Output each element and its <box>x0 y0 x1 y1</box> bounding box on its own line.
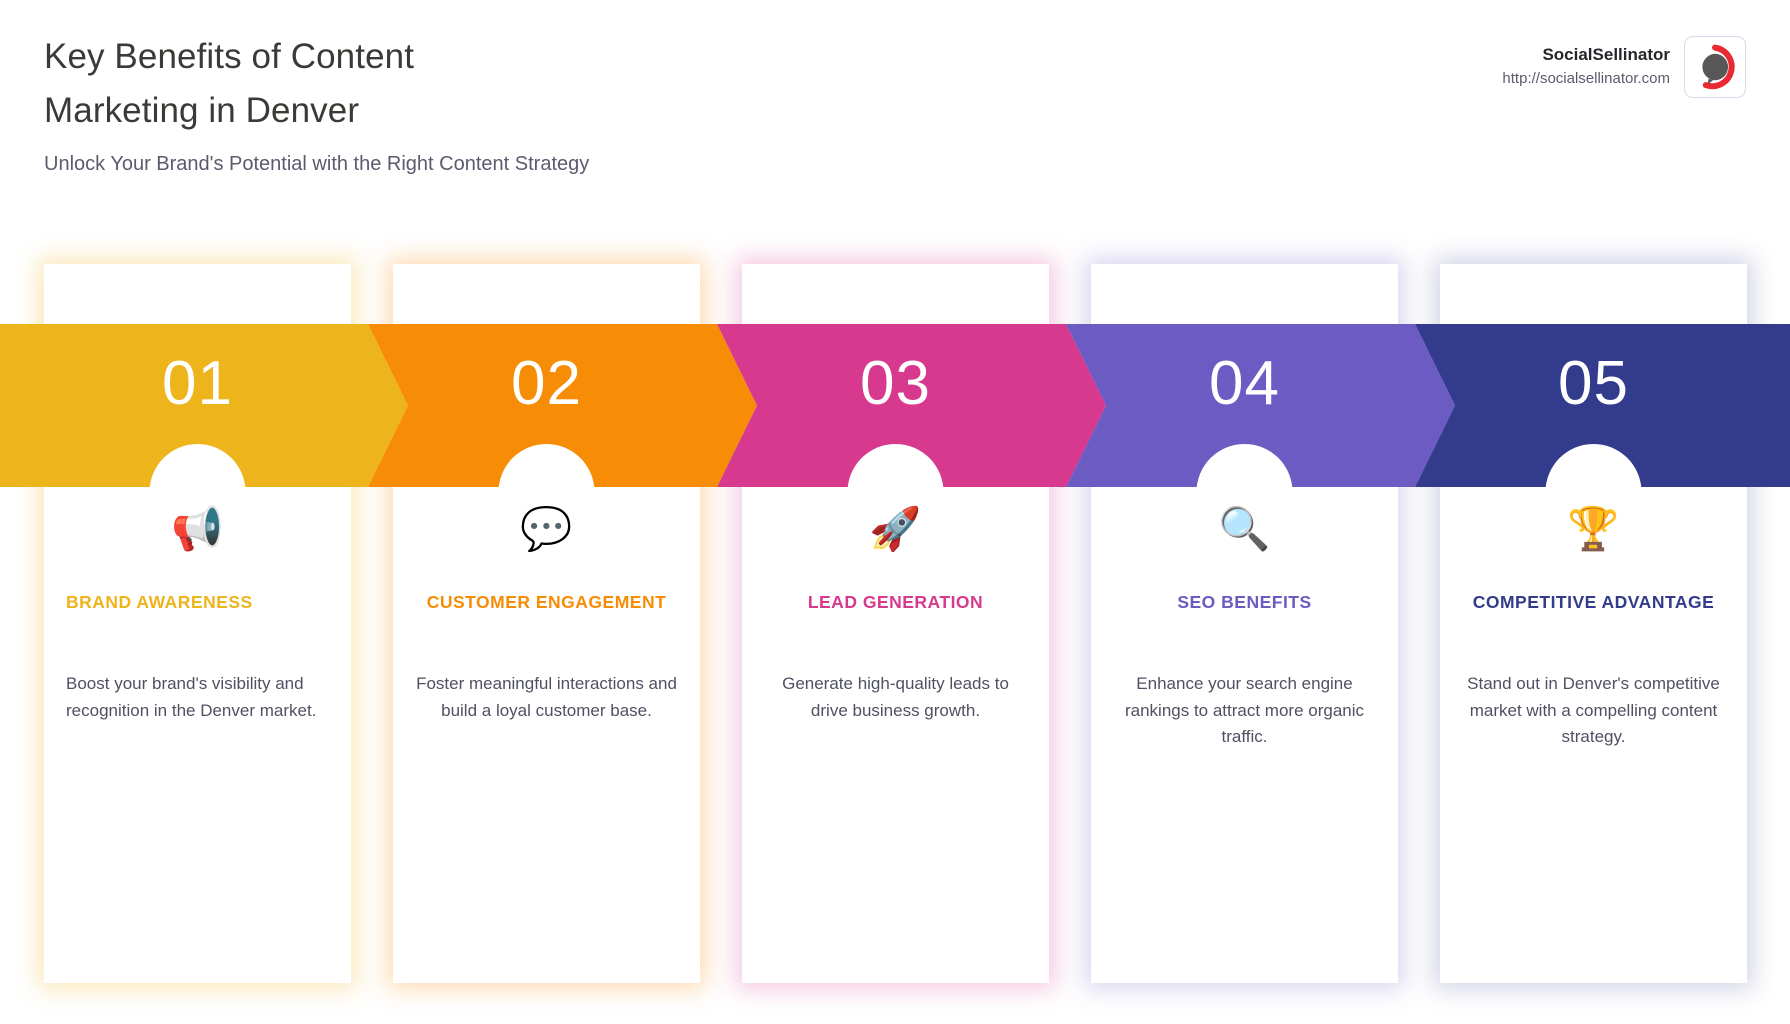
magnifying-glass-icon: 🔍 <box>1091 503 1398 555</box>
step-number: 04 <box>1091 330 1398 438</box>
step-number: 03 <box>742 330 1049 438</box>
step-description: Stand out in Denver's competitive market… <box>1462 671 1725 751</box>
rocket-icon: 🚀 <box>742 503 1049 555</box>
step-title: CUSTOMER ENGAGEMENT <box>415 589 678 615</box>
step-description: Boost your brand's visibility and recogn… <box>66 671 329 724</box>
step-title: SEO BENEFITS <box>1113 589 1376 615</box>
step-title: COMPETITIVE ADVANTAGE <box>1462 589 1725 615</box>
trophy-icon: 🏆 <box>1440 503 1747 555</box>
megaphone-icon: 📢 <box>44 503 351 555</box>
speech-balloon-icon: 💬 <box>393 503 700 555</box>
infographic-canvas: Key Benefits of Content Marketing in Den… <box>0 0 1790 1024</box>
step-number: 01 <box>44 330 351 438</box>
step-title: BRAND AWARENESS <box>66 589 329 615</box>
step-title: LEAD GENERATION <box>764 589 1027 615</box>
step-description: Enhance your search engine rankings to a… <box>1113 671 1376 751</box>
step-number: 05 <box>1440 330 1747 438</box>
step-description: Generate high-quality leads to drive bus… <box>764 671 1027 724</box>
step-number-row: 0102030405 <box>0 324 1790 487</box>
step-card-list: 📢BRAND AWARENESSBoost your brand's visib… <box>0 0 1790 1024</box>
step-description: Foster meaningful interactions and build… <box>415 671 678 724</box>
step-number: 02 <box>393 330 700 438</box>
